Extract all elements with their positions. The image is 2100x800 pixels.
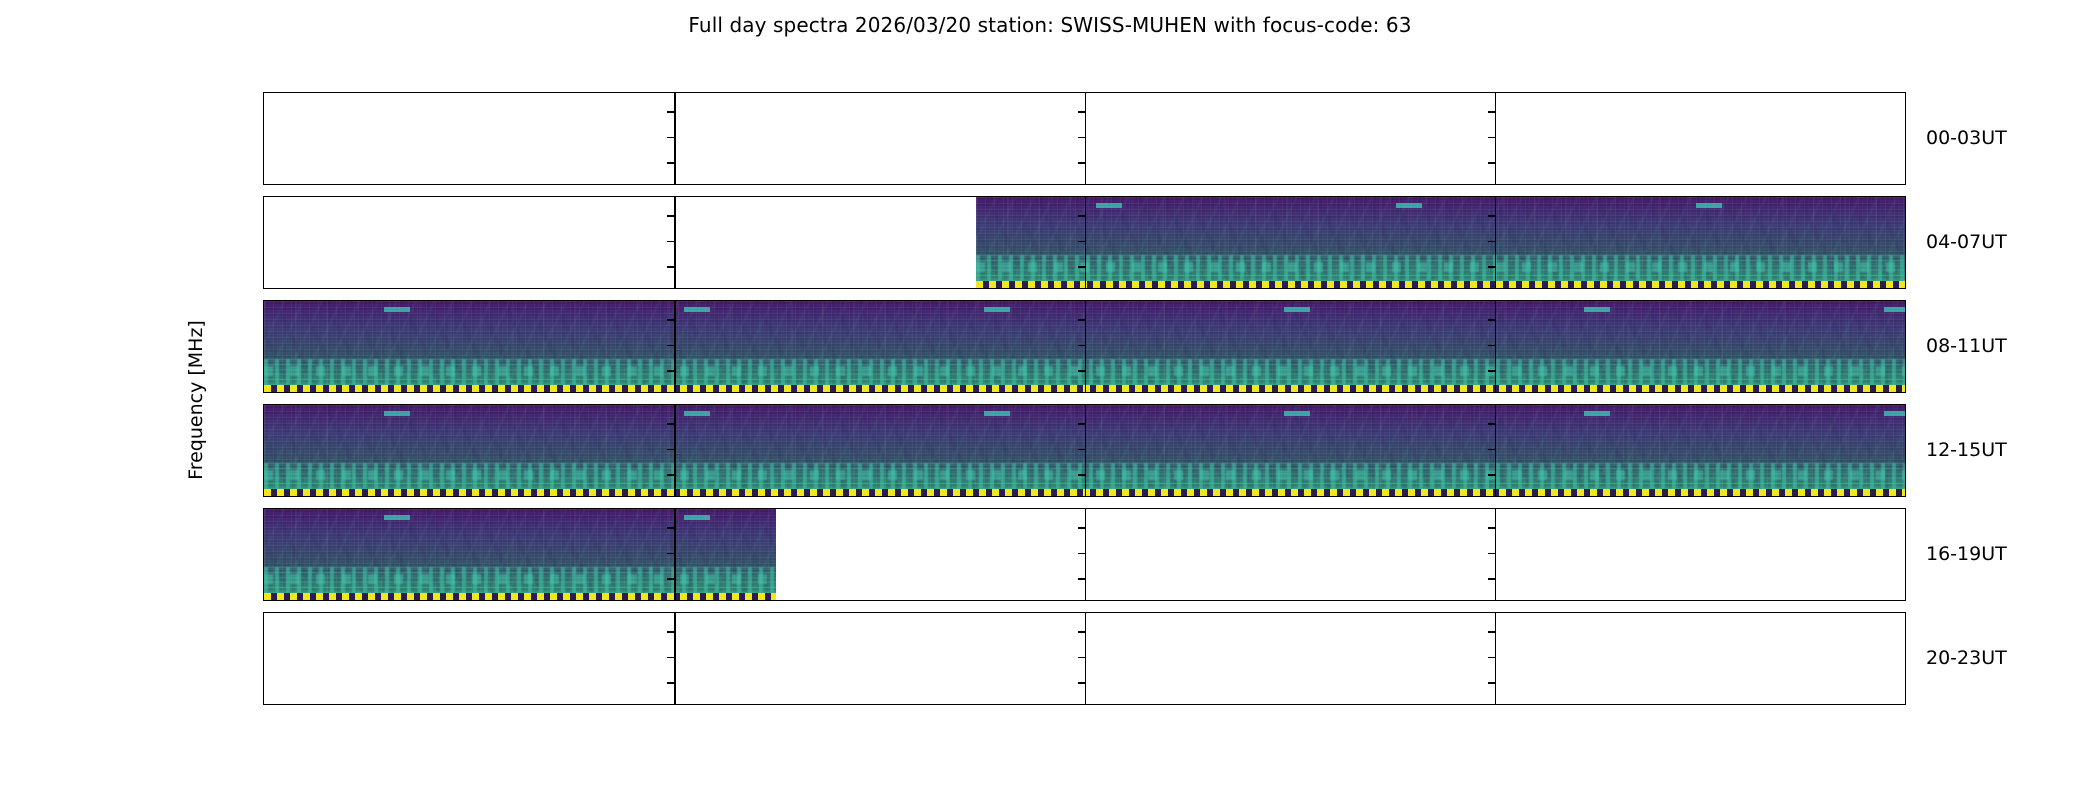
hour-divider [674, 509, 675, 600]
x-tick-mark [1290, 704, 1291, 705]
y-tick-mark [263, 423, 264, 424]
y-tick-mark-inner [1488, 449, 1495, 450]
y-tick-mark-inner [1078, 423, 1085, 424]
panel-axes: 755025 [263, 508, 1906, 601]
y-tick-mark-inner [1488, 370, 1495, 371]
spectrogram-panel: 755025 [263, 508, 1906, 601]
x-tick-mark [1495, 704, 1496, 705]
y-tick-mark-inner [667, 553, 674, 554]
y-axis-label: Frequency [MHz] [185, 320, 207, 480]
y-tick-mark-inner [1078, 162, 1085, 163]
y-tick-mark [263, 474, 264, 475]
hour-divider [1085, 93, 1086, 184]
y-tick-mark-inner [1488, 682, 1495, 683]
panel-axes: 755025 [263, 196, 1906, 289]
y-tick-mark [263, 266, 264, 267]
spectrogram-data [976, 197, 1905, 288]
spectrogram-layer-hidash [976, 203, 1905, 208]
y-tick-mark [263, 241, 264, 242]
spectrogram-layer-lowband [264, 567, 776, 593]
x-tick-mark [1085, 704, 1086, 705]
y-tick-mark-inner [1488, 162, 1495, 163]
panel-time-range-label: 00-03UT [1926, 127, 2007, 149]
y-tick-mark-inner [667, 215, 674, 216]
y-tick-mark-inner [1078, 474, 1085, 475]
panel-time-range-label: 20-23UT [1926, 647, 2007, 669]
y-tick-mark-inner [1488, 215, 1495, 216]
x-tick-mark [1597, 704, 1598, 705]
y-tick-mark [263, 137, 264, 138]
x-tick-mark [469, 704, 470, 705]
x-tick-mark [1700, 704, 1701, 705]
y-tick-mark-inner [1078, 319, 1085, 320]
x-tick-mark [982, 704, 983, 705]
y-tick-mark-inner [667, 474, 674, 475]
hour-divider [1495, 93, 1496, 184]
y-tick-mark-inner [667, 657, 674, 658]
y-tick-mark [263, 319, 264, 320]
y-tick-mark-inner [667, 241, 674, 242]
y-tick-mark-inner [667, 578, 674, 579]
hour-divider [674, 197, 675, 288]
y-tick-mark-inner [1488, 266, 1495, 267]
y-tick-mark-inner [667, 266, 674, 267]
hour-divider [1495, 509, 1496, 600]
panel-time-range-label: 04-07UT [1926, 231, 2007, 253]
x-tick-mark [674, 704, 675, 705]
x-tick-mark [879, 704, 880, 705]
panel-axes: 75502500153045001530450015304500153045 [263, 612, 1906, 705]
x-tick-mark [1392, 704, 1393, 705]
y-tick-mark [263, 345, 264, 346]
y-tick-mark-inner [1078, 111, 1085, 112]
y-tick-mark [263, 527, 264, 528]
y-tick-mark-inner [1488, 631, 1495, 632]
hour-divider [1495, 405, 1496, 496]
y-tick-mark-inner [1078, 449, 1085, 450]
y-tick-mark [263, 215, 264, 216]
y-tick-mark-inner [1488, 527, 1495, 528]
y-tick-mark-inner [1078, 137, 1085, 138]
x-tick-mark [1187, 704, 1188, 705]
hour-divider [674, 93, 675, 184]
y-tick-mark-inner [1078, 527, 1085, 528]
x-tick-mark [264, 704, 265, 705]
y-tick-mark-inner [667, 162, 674, 163]
y-tick-mark-inner [1078, 266, 1085, 267]
spectrogram-layer-yellowbar [264, 593, 776, 600]
y-tick-mark-inner [667, 370, 674, 371]
y-tick-mark-inner [667, 631, 674, 632]
spectrogram-panel: 755025 [263, 404, 1906, 497]
y-tick-mark-inner [1488, 111, 1495, 112]
hour-divider [1085, 613, 1086, 704]
panel-time-range-label: 12-15UT [1926, 439, 2007, 461]
spectrogram-layer-hidash [264, 515, 776, 520]
y-tick-mark-inner [667, 111, 674, 112]
y-tick-mark-inner [1488, 578, 1495, 579]
panel-axes: 755025 [263, 404, 1906, 497]
y-tick-mark-inner [1078, 682, 1085, 683]
y-tick-mark [263, 449, 264, 450]
panel-axes: 755025 [263, 300, 1906, 393]
y-tick-mark [263, 657, 264, 658]
panel-time-range-label: 08-11UT [1926, 335, 2007, 357]
y-tick-mark-inner [1078, 241, 1085, 242]
hour-divider [674, 301, 675, 392]
y-tick-mark-inner [667, 527, 674, 528]
y-tick-mark-inner [667, 137, 674, 138]
y-tick-mark-inner [1078, 657, 1085, 658]
y-tick-mark-inner [1078, 631, 1085, 632]
y-tick-mark-inner [1488, 474, 1495, 475]
spectrogram-layer-yellowbar [976, 281, 1905, 288]
y-tick-mark-inner [1488, 553, 1495, 554]
y-tick-mark-inner [1488, 345, 1495, 346]
hour-divider [1085, 405, 1086, 496]
y-tick-mark-inner [1488, 657, 1495, 658]
spectrogram-layer-lowband [976, 255, 1905, 281]
y-tick-mark [263, 370, 264, 371]
y-tick-mark [263, 578, 264, 579]
x-tick-mark [367, 704, 368, 705]
spectrogram-panel: 755025 [263, 92, 1906, 185]
y-tick-mark-inner [667, 345, 674, 346]
panel-time-range-label: 16-19UT [1926, 543, 2007, 565]
y-tick-mark [263, 553, 264, 554]
hour-divider [674, 405, 675, 496]
y-tick-mark-inner [1488, 319, 1495, 320]
spectrogram-data [264, 509, 776, 600]
y-tick-mark-inner [1488, 137, 1495, 138]
y-tick-mark-inner [1078, 370, 1085, 371]
y-tick-mark-inner [1488, 241, 1495, 242]
spectrogram-panel: 75502500153045001530450015304500153045 [263, 612, 1906, 705]
y-tick-mark-inner [667, 423, 674, 424]
spectrogram-panel: 755025 [263, 196, 1906, 289]
hour-divider [1085, 509, 1086, 600]
y-tick-mark-inner [1078, 215, 1085, 216]
hour-divider [674, 613, 675, 704]
hour-divider [1495, 197, 1496, 288]
y-tick-mark-inner [667, 449, 674, 450]
hour-divider [1495, 301, 1496, 392]
y-tick-mark-inner [1488, 423, 1495, 424]
x-tick-mark [1802, 704, 1803, 705]
y-tick-mark [263, 162, 264, 163]
y-tick-mark [263, 631, 264, 632]
y-tick-mark-inner [667, 682, 674, 683]
spectrogram-panel: 755025 [263, 300, 1906, 393]
hour-divider [1085, 197, 1086, 288]
hour-divider [1085, 301, 1086, 392]
y-tick-mark-inner [1078, 578, 1085, 579]
page-title: Full day spectra 2026/03/20 station: SWI… [0, 13, 2100, 37]
spectrogram-figure: Full day spectra 2026/03/20 station: SWI… [0, 0, 2100, 800]
x-tick-mark [572, 704, 573, 705]
y-tick-mark-inner [1078, 345, 1085, 346]
hour-divider [1495, 613, 1496, 704]
panel-axes: 755025 [263, 92, 1906, 185]
x-tick-mark [777, 704, 778, 705]
y-tick-mark-inner [667, 319, 674, 320]
y-tick-mark [263, 111, 264, 112]
y-tick-mark-inner [1078, 553, 1085, 554]
y-tick-mark [263, 682, 264, 683]
